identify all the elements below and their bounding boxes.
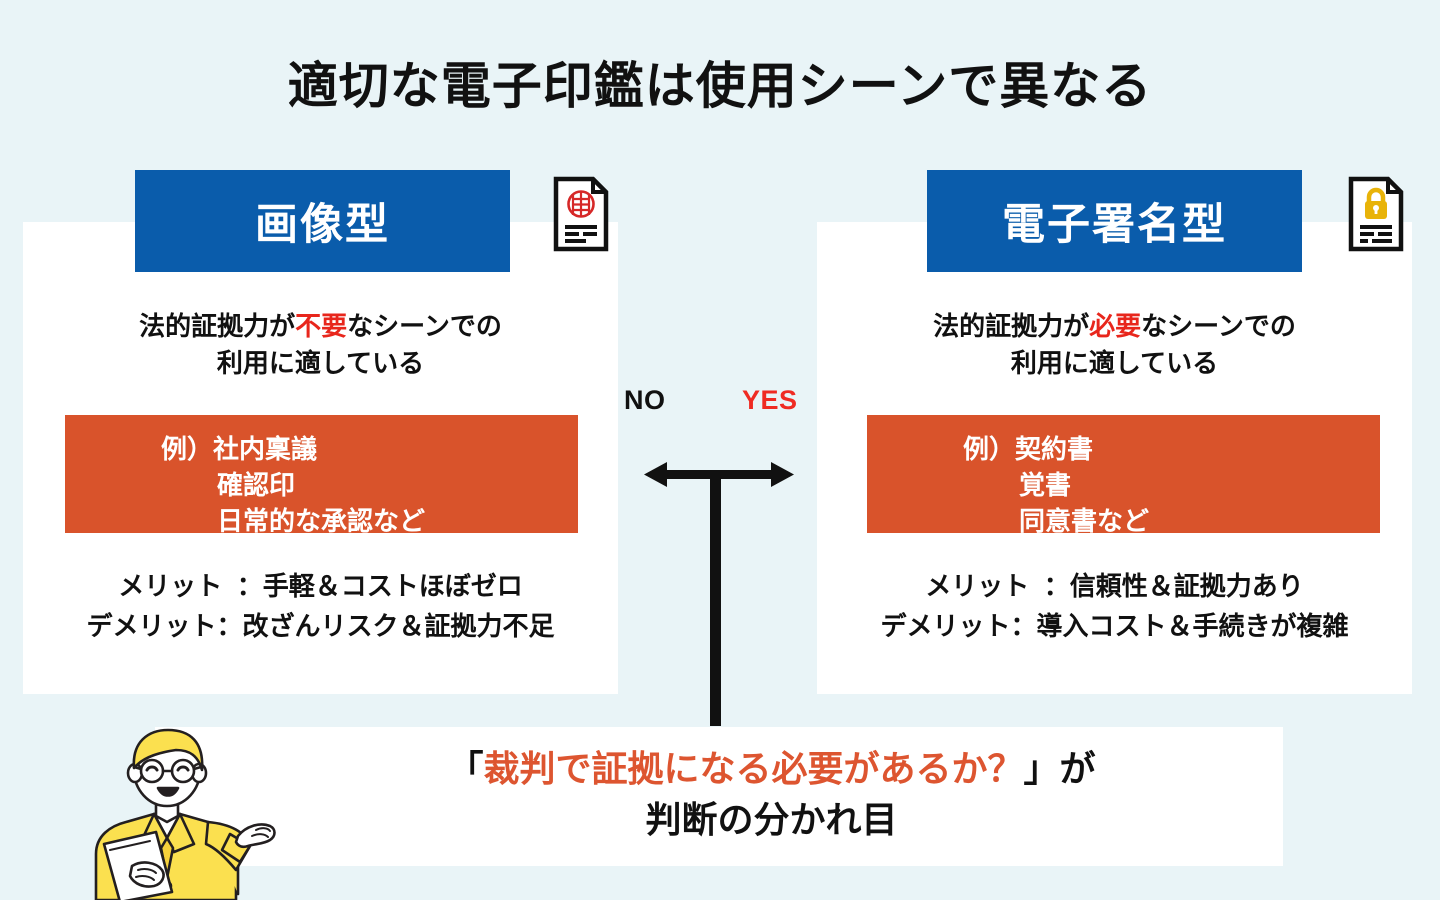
merit-value: ：手軽＆コストほぼゼロ <box>237 571 523 601</box>
example-item: 日常的な承認など <box>217 506 425 536</box>
example-label: 例） <box>963 434 1015 464</box>
banner-question: 裁判で証拠になる必要があるか？ <box>483 748 1023 789</box>
desc-highlight: 不要 <box>295 311 347 341</box>
demerit-value: ：改ざんリスク＆証拠力不足 <box>217 611 555 641</box>
open-quote: 「 <box>447 748 483 789</box>
businessman-illustration <box>80 726 280 900</box>
card-header-digital-signature-type: 電子署名型 <box>927 170 1302 272</box>
example-box-image-type: 例）社内稟議 確認印 日常的な承認など <box>65 415 578 533</box>
desc-text-before: 法的証拠力が <box>933 311 1089 341</box>
page-title: 適切な電子印鑑は使用シーンで異なる <box>0 46 1440 118</box>
example-label: 例） <box>161 434 213 464</box>
desc-highlight: 必要 <box>1089 311 1141 341</box>
example-box-digital-signature-type: 例）契約書 覚書 同意書など <box>867 415 1380 533</box>
desc-text-after: なシーンでの <box>347 311 502 341</box>
branch-label-yes: YES <box>742 385 798 416</box>
example-item: 同意書など <box>1019 506 1149 536</box>
double-headed-horizontal-arrow-with-stem-icon <box>614 423 824 733</box>
demerit-value: ：導入コスト＆手続きが複雑 <box>1011 611 1349 641</box>
card-digital-signature-type: 電子署名型 法的証拠力が必要なシーンでの 利用に適している 例）契約書 覚書 同… <box>817 222 1412 694</box>
card-header-image-type: 画像型 <box>135 170 510 272</box>
document-with-lock-icon <box>1348 176 1404 252</box>
card-image-type: 画像型 法的証拠力が不要なシーンでの 利用に適している 例）社内稟議 確認印 日… <box>23 222 618 694</box>
desc-text-after: なシーンでの <box>1141 311 1296 341</box>
bottom-banner-text: 「裁判で証拠になる必要があるか？」が 判断の分かれ目 <box>260 743 1283 845</box>
desc-line-2: 利用に適している <box>23 345 618 382</box>
merits-image-type: メリット ：手軽＆コストほぼゼロ デメリット：改ざんリスク＆証拠力不足 <box>23 567 618 646</box>
branch-label-no: NO <box>624 385 666 416</box>
banner-line-2: 判断の分かれ目 <box>260 794 1283 845</box>
close-quote: 」 <box>1024 748 1060 789</box>
example-item: 確認印 <box>217 470 295 500</box>
example-item: 社内稟議 <box>213 434 317 464</box>
infographic-canvas: 適切な電子印鑑は使用シーンで異なる 画像型 法的証拠力が不要なシーンでの 利用に… <box>0 0 1440 900</box>
document-with-red-stamp-icon <box>553 176 609 252</box>
demerit-label: デメリット <box>880 611 1010 641</box>
desc-line-2: 利用に適している <box>817 345 1412 382</box>
card-description-digital-signature-type: 法的証拠力が必要なシーンでの 利用に適している <box>817 308 1412 382</box>
example-item: 覚書 <box>1019 470 1071 500</box>
demerit-label: デメリット <box>86 611 216 641</box>
decision-branch: NO YES <box>614 385 824 735</box>
merit-value: ：信頼性＆証拠力あり <box>1044 571 1304 601</box>
card-description-image-type: 法的証拠力が不要なシーンでの 利用に適している <box>23 308 618 382</box>
merit-label: メリット <box>118 571 222 601</box>
desc-text-before: 法的証拠力が <box>139 311 295 341</box>
merits-digital-signature-type: メリット ：信頼性＆証拠力あり デメリット：導入コスト＆手続きが複雑 <box>817 567 1412 646</box>
merit-label: メリット <box>925 571 1029 601</box>
bottom-banner: 「裁判で証拠になる必要があるか？」が 判断の分かれ目 <box>155 727 1283 866</box>
example-item: 契約書 <box>1015 434 1093 464</box>
banner-suffix: が <box>1060 748 1096 789</box>
